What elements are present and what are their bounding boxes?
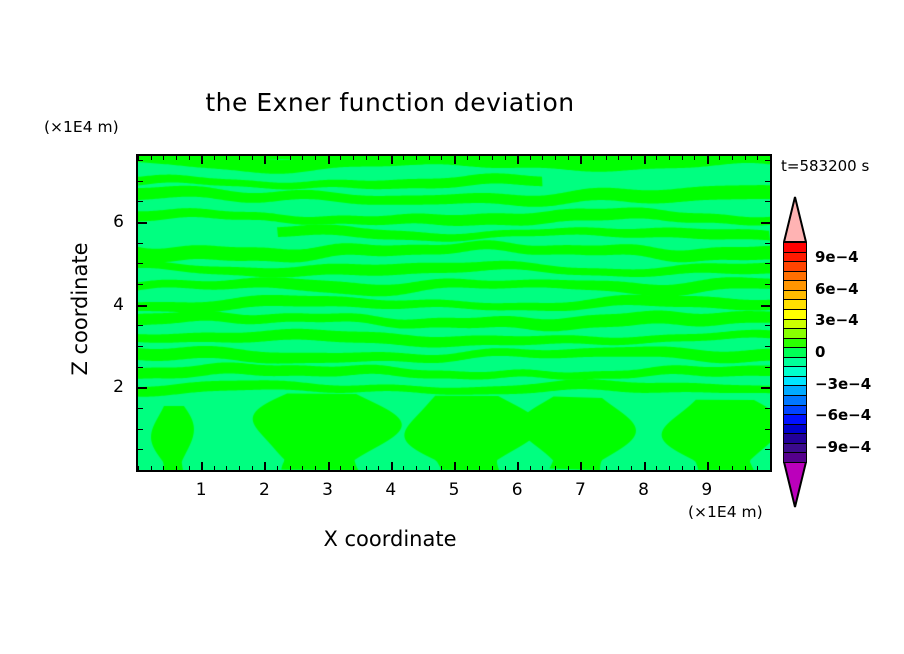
- x-axis-minor-tick: [618, 155, 619, 160]
- x-axis-minor-tick: [163, 155, 164, 160]
- x-axis-minor-tick: [542, 155, 543, 160]
- colorbar-tick-label: −6e−4: [815, 406, 871, 424]
- x-axis-minor-tick: [290, 466, 291, 471]
- y-axis-major-tick: [761, 222, 770, 224]
- figure-canvas: the Exner function deviation (×1E4 m) (×…: [0, 0, 904, 654]
- x-axis-minor-tick: [656, 466, 657, 471]
- x-axis-tick-label: 9: [687, 480, 727, 500]
- x-axis-minor-tick: [277, 466, 278, 471]
- x-axis-minor-tick: [226, 155, 227, 160]
- x-axis-tick-label: 5: [434, 480, 474, 500]
- x-axis-major-tick: [201, 155, 203, 164]
- x-axis-minor-tick: [505, 155, 506, 160]
- x-axis-minor-tick: [214, 466, 215, 471]
- x-axis-major-tick: [517, 462, 519, 471]
- x-axis-minor-tick: [568, 155, 569, 160]
- x-axis-minor-tick: [214, 155, 215, 160]
- x-axis-minor-tick: [719, 466, 720, 471]
- x-axis-minor-tick: [353, 155, 354, 160]
- x-axis-minor-tick: [530, 155, 531, 160]
- y-axis-minor-tick: [138, 367, 143, 368]
- y-axis-unit-label: (×1E4 m): [44, 118, 119, 136]
- x-axis-tick-label: 4: [371, 480, 411, 500]
- x-axis-minor-tick: [176, 466, 177, 471]
- y-axis-minor-tick: [138, 346, 143, 347]
- x-axis-major-tick: [328, 155, 330, 164]
- y-axis-minor-tick: [138, 263, 143, 264]
- x-axis-minor-tick: [441, 466, 442, 471]
- y-axis-tick-label: 2: [84, 377, 124, 397]
- colorbar-tick-label: 3e−4: [815, 311, 859, 329]
- x-axis-minor-tick: [151, 155, 152, 160]
- y-axis-minor-tick: [138, 325, 143, 326]
- x-axis-major-tick: [264, 462, 266, 471]
- x-axis-minor-tick: [770, 155, 771, 160]
- y-axis-minor-tick: [765, 346, 770, 347]
- x-axis-minor-tick: [505, 466, 506, 471]
- x-axis-minor-tick: [378, 155, 379, 160]
- x-axis-minor-tick: [593, 466, 594, 471]
- x-axis-minor-tick: [226, 466, 227, 471]
- x-axis-minor-tick: [340, 155, 341, 160]
- x-axis-major-tick: [454, 462, 456, 471]
- y-axis-major-tick: [138, 305, 147, 307]
- colorbar-tick-label: 6e−4: [815, 280, 859, 298]
- colorbar-tick-label: 0: [815, 343, 825, 361]
- x-axis-major-tick: [707, 462, 709, 471]
- contour-plot-area: [136, 154, 772, 472]
- y-axis-minor-tick: [765, 181, 770, 182]
- y-axis-tick-label: 6: [84, 212, 124, 232]
- y-axis-minor-tick: [765, 367, 770, 368]
- x-axis-major-tick: [391, 462, 393, 471]
- x-axis-minor-tick: [492, 155, 493, 160]
- x-axis-tick-label: 2: [244, 480, 284, 500]
- x-axis-minor-tick: [151, 466, 152, 471]
- x-axis-minor-tick: [492, 466, 493, 471]
- x-axis-major-tick: [580, 462, 582, 471]
- y-axis-minor-tick: [138, 429, 143, 430]
- y-axis-major-tick: [761, 387, 770, 389]
- x-axis-minor-tick: [416, 155, 417, 160]
- x-axis-minor-tick: [568, 466, 569, 471]
- x-axis-unit-label: (×1E4 m): [688, 503, 763, 521]
- y-axis-minor-tick: [765, 470, 770, 471]
- x-axis-minor-tick: [732, 466, 733, 471]
- page-title: the Exner function deviation: [0, 88, 780, 117]
- y-axis-minor-tick: [138, 201, 143, 202]
- x-axis-minor-tick: [694, 155, 695, 160]
- x-axis-minor-tick: [366, 155, 367, 160]
- x-axis-minor-tick: [340, 466, 341, 471]
- x-axis-major-tick: [517, 155, 519, 164]
- y-axis-minor-tick: [765, 429, 770, 430]
- y-axis-minor-tick: [138, 181, 143, 182]
- x-axis-major-tick: [391, 155, 393, 164]
- x-axis-tick-label: 6: [497, 480, 537, 500]
- x-axis-minor-tick: [429, 155, 430, 160]
- x-axis-minor-tick: [631, 155, 632, 160]
- x-axis-minor-tick: [403, 155, 404, 160]
- x-axis-minor-tick: [467, 466, 468, 471]
- colorbar-top-arrow-icon: [783, 196, 807, 242]
- x-axis-minor-tick: [770, 466, 771, 471]
- colorbar-bottom-arrow-icon: [783, 462, 807, 508]
- x-axis-minor-tick: [745, 466, 746, 471]
- x-axis-minor-tick: [163, 466, 164, 471]
- x-axis-minor-tick: [542, 466, 543, 471]
- x-axis-tick-label: 3: [308, 480, 348, 500]
- x-axis-major-tick: [201, 462, 203, 471]
- x-axis-minor-tick: [757, 466, 758, 471]
- x-axis-minor-tick: [302, 155, 303, 160]
- y-axis-minor-tick: [765, 263, 770, 264]
- y-axis-minor-tick: [765, 160, 770, 161]
- colorbar-tick-label: 9e−4: [815, 248, 859, 266]
- y-axis-minor-tick: [138, 449, 143, 450]
- x-axis-minor-tick: [189, 466, 190, 471]
- y-axis-minor-tick: [765, 243, 770, 244]
- x-axis-minor-tick: [252, 155, 253, 160]
- x-axis-minor-tick: [290, 155, 291, 160]
- x-axis-minor-tick: [732, 155, 733, 160]
- x-axis-title: X coordinate: [0, 527, 780, 551]
- x-axis-minor-tick: [555, 155, 556, 160]
- colorbar: [783, 196, 807, 508]
- y-axis-minor-tick: [765, 325, 770, 326]
- y-axis-tick-label: 4: [84, 295, 124, 315]
- x-axis-minor-tick: [479, 155, 480, 160]
- x-axis-minor-tick: [302, 466, 303, 471]
- colorbar-tick-label: −3e−4: [815, 375, 871, 393]
- x-axis-minor-tick: [239, 466, 240, 471]
- x-axis-major-tick: [644, 462, 646, 471]
- y-axis-minor-tick: [138, 470, 143, 471]
- y-axis-major-tick: [138, 387, 147, 389]
- y-axis-minor-tick: [138, 160, 143, 161]
- x-axis-minor-tick: [366, 466, 367, 471]
- x-axis-minor-tick: [353, 466, 354, 471]
- x-axis-minor-tick: [719, 155, 720, 160]
- y-axis-minor-tick: [138, 243, 143, 244]
- x-axis-minor-tick: [176, 155, 177, 160]
- x-axis-minor-tick: [694, 466, 695, 471]
- y-axis-minor-tick: [765, 201, 770, 202]
- y-axis-minor-tick: [765, 408, 770, 409]
- y-axis-minor-tick: [138, 284, 143, 285]
- x-axis-tick-label: 8: [624, 480, 664, 500]
- x-axis-minor-tick: [429, 466, 430, 471]
- x-axis-major-tick: [580, 155, 582, 164]
- x-axis-minor-tick: [239, 155, 240, 160]
- contour-field: [138, 156, 770, 470]
- y-axis-major-tick: [138, 222, 147, 224]
- x-axis-tick-label: 7: [560, 480, 600, 500]
- x-axis-minor-tick: [593, 155, 594, 160]
- y-axis-major-tick: [761, 305, 770, 307]
- x-axis-minor-tick: [315, 155, 316, 160]
- time-annotation: t=583200 s: [781, 157, 869, 175]
- y-axis-minor-tick: [765, 284, 770, 285]
- x-axis-major-tick: [264, 155, 266, 164]
- x-axis-minor-tick: [618, 466, 619, 471]
- x-axis-minor-tick: [441, 155, 442, 160]
- x-axis-minor-tick: [467, 155, 468, 160]
- x-axis-minor-tick: [479, 466, 480, 471]
- x-axis-minor-tick: [745, 155, 746, 160]
- x-axis-minor-tick: [277, 155, 278, 160]
- x-axis-minor-tick: [656, 155, 657, 160]
- x-axis-minor-tick: [378, 466, 379, 471]
- x-axis-minor-tick: [669, 155, 670, 160]
- x-axis-minor-tick: [669, 466, 670, 471]
- colorbar-tick-label: −9e−4: [815, 438, 871, 456]
- x-axis-major-tick: [328, 462, 330, 471]
- x-axis-minor-tick: [631, 466, 632, 471]
- x-axis-minor-tick: [757, 155, 758, 160]
- y-axis-minor-tick: [138, 408, 143, 409]
- x-axis-minor-tick: [416, 466, 417, 471]
- x-axis-minor-tick: [315, 466, 316, 471]
- x-axis-minor-tick: [403, 466, 404, 471]
- x-axis-major-tick: [644, 155, 646, 164]
- x-axis-minor-tick: [189, 155, 190, 160]
- x-axis-major-tick: [454, 155, 456, 164]
- x-axis-minor-tick: [606, 466, 607, 471]
- x-axis-minor-tick: [606, 155, 607, 160]
- x-axis-major-tick: [707, 155, 709, 164]
- x-axis-minor-tick: [530, 466, 531, 471]
- x-axis-minor-tick: [682, 155, 683, 160]
- y-axis-minor-tick: [765, 449, 770, 450]
- x-axis-minor-tick: [555, 466, 556, 471]
- x-axis-tick-label: 1: [181, 480, 221, 500]
- x-axis-minor-tick: [682, 466, 683, 471]
- x-axis-minor-tick: [252, 466, 253, 471]
